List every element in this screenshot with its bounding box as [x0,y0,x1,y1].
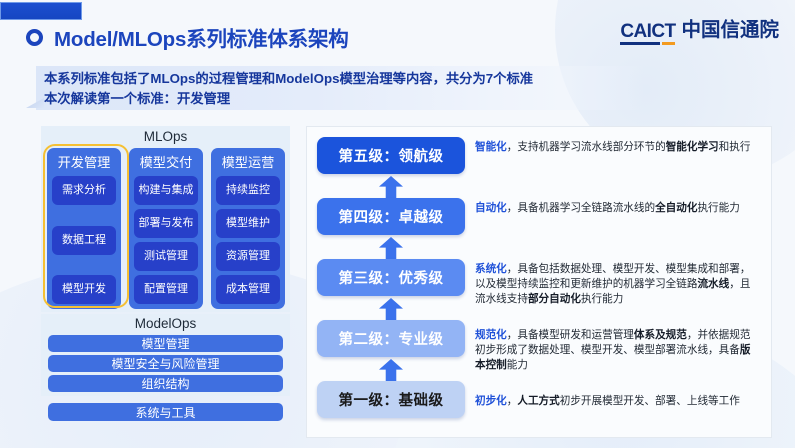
column-header-label: 开发管理 [47,148,121,174]
mlops-column-model-delivery[interactable]: 模型交付 构建与集成 部署与发布 测试管理 配置管理 [129,148,203,309]
arrow-up-icon [379,298,403,321]
mlops-item[interactable]: 部署与发布 [134,209,198,238]
mlops-columns: 开发管理 需求分析 数据工程 模型开发 模型交付 构建与集成 部署与发布 测试管… [47,148,285,309]
mlops-item[interactable]: 需求分析 [52,176,116,205]
mlops-item[interactable]: 配置管理 [134,275,198,304]
maturity-level-1[interactable]: 第一级：基础级 [317,381,465,418]
maturity-description-4: 自动化，具备机器学习全链路流水线的全自动化执行能力 [475,201,751,216]
mlops-column-dev-management[interactable]: 开发管理 需求分析 数据工程 模型开发 [47,148,121,309]
mlops-item[interactable]: 模型维护 [216,209,280,238]
maturity-description-3: 系统化，具备包括数据处理、模型开发、模型集成和部署，以及模型持续监控和更新维护的… [475,262,751,307]
mlops-item[interactable]: 持续监控 [216,176,280,205]
column-items: 需求分析 数据工程 模型开发 [47,174,121,309]
left-architecture-panel: MLOps 开发管理 需求分析 数据工程 模型开发 模型交付 构建与集成 [41,126,290,438]
subtitle-text: 本系列标准包括了MLOps的过程管理和ModelOps模型治理等内容，共分为7个… [44,69,644,109]
column-items: 构建与集成 部署与发布 测试管理 配置管理 [129,174,203,309]
subtitle-line-2: 本次解读第一个标准：开发管理 [44,89,644,109]
subtitle-line-1: 本系列标准包括了MLOps的过程管理和ModelOps模型治理等内容，共分为7个… [44,69,644,89]
mlops-item[interactable]: 构建与集成 [134,176,198,205]
column-header-label: 模型交付 [129,148,203,174]
maturity-level-3[interactable]: 第三级：优秀级 [317,259,465,296]
caict-logo: CAICT 中国信通院 [620,21,779,45]
maturity-descriptions: 智能化，支持机器学习流水线部分环节的智能化学习和执行 自动化，具备机器学习全链路… [475,137,761,429]
mlops-item[interactable]: 资源管理 [216,242,280,271]
mlops-item[interactable]: 成本管理 [216,275,280,304]
mlops-group: MLOps 开发管理 需求分析 数据工程 模型开发 模型交付 构建与集成 [41,126,290,312]
maturity-level-5[interactable]: 第五级：领航级 [317,137,465,174]
modelops-bar[interactable]: 组织结构 [48,375,283,392]
mlops-item[interactable]: 测试管理 [134,242,198,271]
modelops-bar[interactable]: 模型管理 [48,335,283,352]
maturity-level-column: 第五级：领航级 第四级：卓越级 第三级：优秀级 第二级：专业级 第一级：基础级 [317,137,465,429]
arrow-up-icon [379,176,403,199]
slide-root: Model/MLOps系列标准体系架构 CAICT 中国信通院 本系列标准包括了… [0,0,795,448]
ring-bullet-icon [26,29,43,46]
arrow-up-icon [379,237,403,260]
maturity-level-4[interactable]: 第四级：卓越级 [317,198,465,235]
maturity-description-5: 智能化，支持机器学习流水线部分环节的智能化学习和执行 [475,140,751,155]
mlops-column-model-operations[interactable]: 模型运营 持续监控 模型维护 资源管理 成本管理 [211,148,285,309]
modelops-bar[interactable]: 模型安全与风险管理 [48,355,283,372]
mlops-group-title: MLOps [41,129,290,144]
modelops-group: ModelOps 模型管理 模型安全与风险管理 组织结构 [41,314,290,396]
title-row: Model/MLOps系列标准体系架构 [26,22,349,52]
modelops-group-title: ModelOps [41,316,290,331]
slide-header: Model/MLOps系列标准体系架构 CAICT 中国信通院 [0,0,795,60]
logo-underline-blue [620,42,660,45]
mlops-item[interactable]: 模型开发 [52,275,116,304]
arrow-up-icon [379,359,403,382]
maturity-description-1: 初步化，人工方式初步开展模型开发、部署、上线等工作 [475,394,751,409]
logo-cn-label: 中国信通院 [681,21,779,45]
logo-en-label: CAICT [620,21,675,42]
logo-en-text: CAICT [620,22,675,45]
systems-and-tools-bar[interactable]: 系统与工具 [48,403,283,421]
subtitle-band-tail [26,98,44,108]
maturity-levels-panel: 第五级：领航级 第四级：卓越级 第三级：优秀级 第二级：专业级 第一级：基础级 … [306,126,772,438]
maturity-description-2: 规范化，具备模型研发和运营管理体系及规范，并依据规范初步形成了数据处理、模型开发… [475,328,751,373]
page-title: Model/MLOps系列标准体系架构 [54,22,349,52]
column-header-label: 模型运营 [211,148,285,174]
mlops-item[interactable]: 数据工程 [52,226,116,255]
maturity-level-2[interactable]: 第二级：专业级 [317,320,465,357]
column-items: 持续监控 模型维护 资源管理 成本管理 [211,174,285,309]
logo-underline-orange [662,42,675,45]
